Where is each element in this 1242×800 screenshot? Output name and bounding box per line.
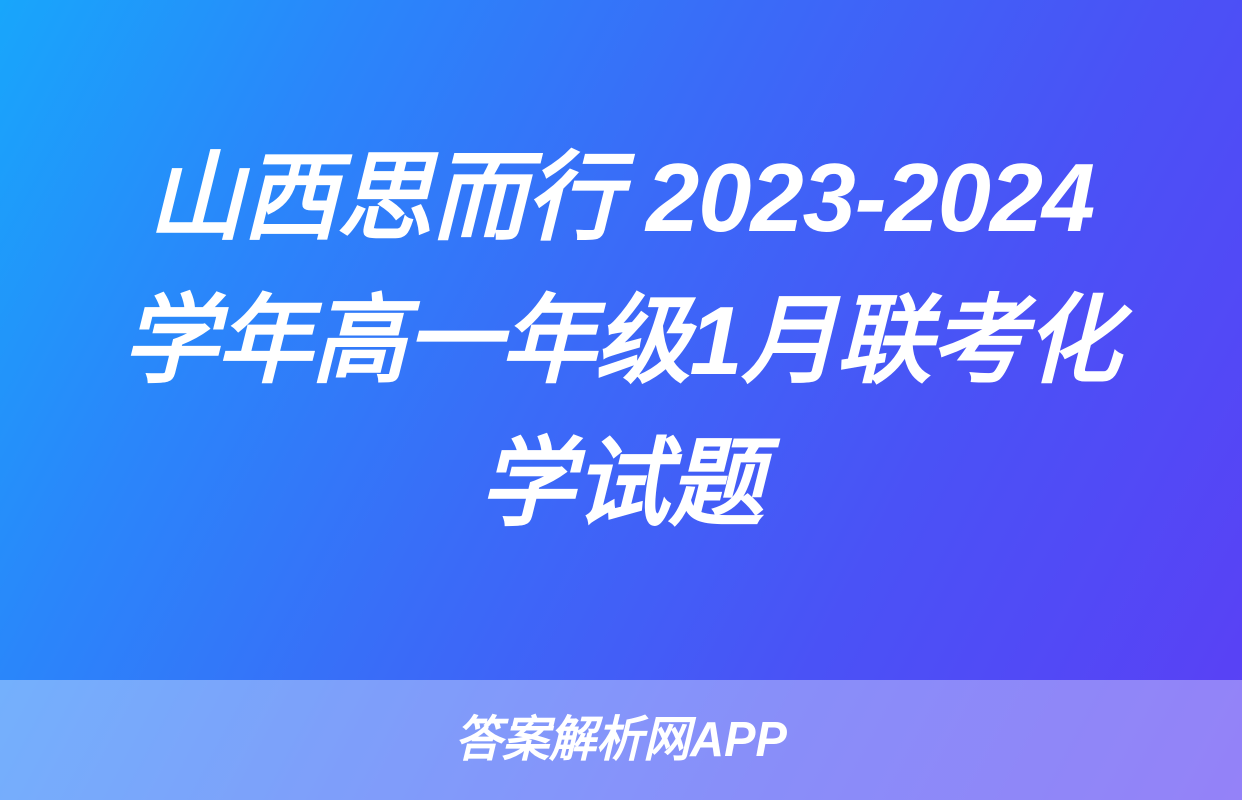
- footer-watermark-band: 答案解析网APP: [0, 680, 1242, 800]
- page-title-line-2: 学年高一年级1月联考化: [86, 269, 1156, 412]
- page-title: 山西思而行 2023-2024 学年高一年级1月联考化 学试题: [0, 0, 1242, 680]
- page-title-line-1: 山西思而行 2023-2024: [86, 126, 1156, 269]
- exam-paper-cover-poster: 山西思而行 2023-2024 学年高一年级1月联考化 学试题 答案解析网APP: [0, 0, 1242, 800]
- page-title-line-3: 学试题: [86, 412, 1156, 555]
- app-watermark-label: 答案解析网APP: [455, 716, 787, 765]
